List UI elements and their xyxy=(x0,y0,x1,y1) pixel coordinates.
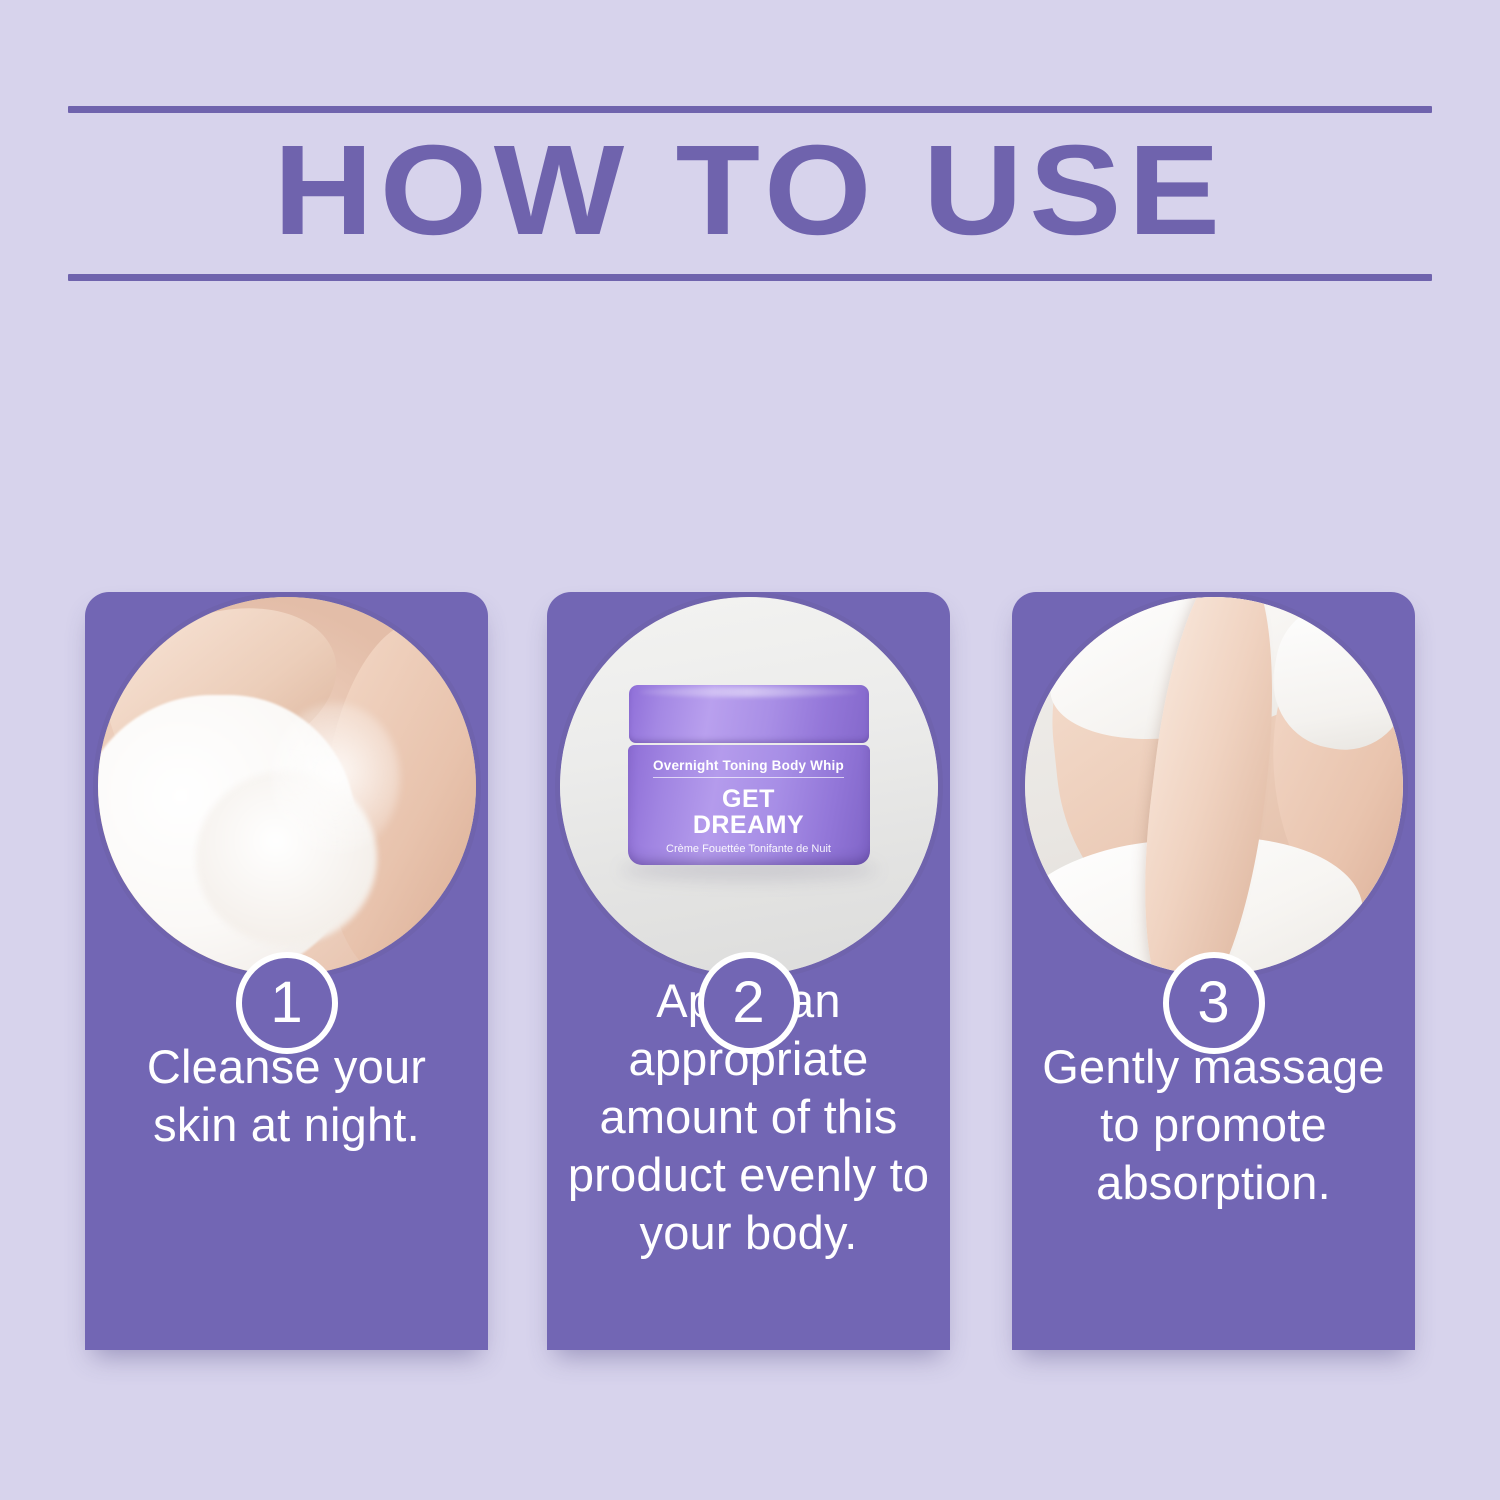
jar-net-volume: 100 mL/3.38 Oz xyxy=(628,864,870,865)
header-rule-top xyxy=(68,106,1432,113)
product-jar: Overnight Toning Body Whip GET DREAMY Cr… xyxy=(628,685,870,865)
step-3-photo xyxy=(1020,592,1408,980)
step-description-1: Cleanse your skin at night. xyxy=(103,1038,470,1154)
jar-subtitle: Crème Fouettée Tonifante de Nuit xyxy=(628,843,870,855)
massaging-lower-back-photo xyxy=(1025,597,1403,975)
header: HOW TO USE xyxy=(68,106,1432,286)
cleansing-foam-on-shoulder-photo xyxy=(98,597,476,975)
header-rule-bottom xyxy=(68,274,1432,281)
jar-tagline: Overnight Toning Body Whip xyxy=(653,758,844,778)
step-2-photo: Overnight Toning Body Whip GET DREAMY Cr… xyxy=(555,592,943,980)
step-description-3: Gently massage to promote absorption. xyxy=(1030,1038,1397,1212)
step-number-badge-1: 1 xyxy=(236,952,338,1054)
product-jar-photo: Overnight Toning Body Whip GET DREAMY Cr… xyxy=(560,597,938,975)
jar-label: Overnight Toning Body Whip GET DREAMY Cr… xyxy=(628,757,870,865)
step-1-photo xyxy=(93,592,481,980)
page-title: HOW TO USE xyxy=(13,116,1486,266)
jar-product-name-line2: DREAMY xyxy=(628,812,870,838)
step-card-2: Overnight Toning Body Whip GET DREAMY Cr… xyxy=(547,592,950,1350)
jar-product-name-line1: GET xyxy=(628,786,870,812)
step-number-badge-3: 3 xyxy=(1163,952,1265,1054)
step-card-3: 3 Gently massage to promote absorption. xyxy=(1012,592,1415,1350)
jar-lid-highlight xyxy=(639,687,859,697)
photo-foam-bubbles xyxy=(271,703,400,854)
jar-body: Overnight Toning Body Whip GET DREAMY Cr… xyxy=(628,745,870,865)
step-number-badge-2: 2 xyxy=(698,952,800,1054)
steps-container: 1 Cleanse your skin at night. Overnight … xyxy=(85,410,1415,1370)
step-card-1: 1 Cleanse your skin at night. xyxy=(85,592,488,1350)
jar-lid xyxy=(629,685,869,743)
